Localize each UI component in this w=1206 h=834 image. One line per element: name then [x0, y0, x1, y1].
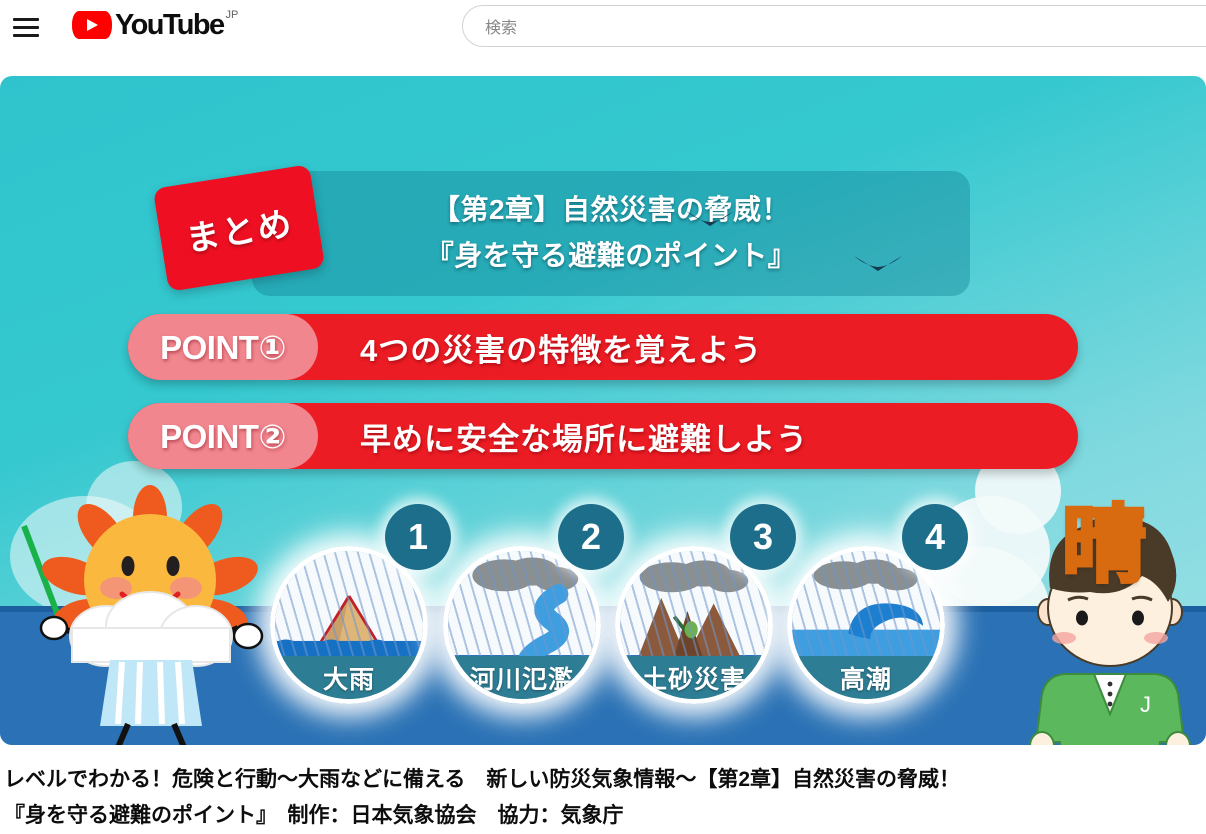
- bird-icon-2: [852, 254, 904, 272]
- disaster-number-badge-1: 1: [385, 504, 451, 570]
- shirt-letter: J: [1140, 692, 1151, 717]
- point-row-2: POINT② 早めに安全な場所に避難しよう: [128, 403, 1078, 469]
- search-placeholder: 検索: [485, 14, 517, 38]
- youtube-country-code: JP: [226, 9, 239, 21]
- disaster-number-badge-4: 4: [902, 504, 968, 570]
- video-caption-line2: 『身を守る避難のポイント』 制作：日本気象協会 協力：気象庁: [4, 798, 1202, 834]
- hamburger-menu-icon[interactable]: [13, 13, 41, 41]
- disaster-number-4: 4: [925, 516, 945, 558]
- youtube-wordmark: YouTube: [115, 8, 224, 42]
- youtube-header: YouTube JP 検索: [0, 0, 1206, 53]
- bird-icon-1: [684, 209, 736, 227]
- disaster-number-badge-2: 2: [558, 504, 624, 570]
- hamburger-bar-2: [13, 26, 39, 29]
- disaster-circle-1: 大雨: [270, 546, 428, 704]
- disaster-label-band-3: 土砂災害: [620, 656, 768, 699]
- point-text-2: 早めに安全な場所に避難しよう: [360, 414, 808, 459]
- disaster-label-band-1: 大雨: [275, 656, 423, 699]
- point-chip-1: POINT①: [128, 314, 318, 380]
- youtube-logo[interactable]: YouTube JP: [72, 8, 238, 44]
- disaster-label-1: 大雨: [323, 660, 375, 696]
- video-thumbnail[interactable]: 【第2章】自然災害の脅威！ 『身を守る避難のポイント』 まとめ POINT① 4…: [0, 76, 1206, 745]
- point-chip-label-1: POINT①: [160, 328, 286, 367]
- video-caption[interactable]: レベルでわかる！危険と行動〜大雨などに備える 新しい防災気象情報〜【第2章】自然…: [4, 762, 1202, 834]
- disaster-circle-4: 高潮: [787, 546, 945, 704]
- disaster-number-3: 3: [753, 516, 773, 558]
- disaster-circle-3: 土砂災害: [615, 546, 773, 704]
- search-input[interactable]: 検索: [462, 5, 1206, 47]
- disaster-label-3: 土砂災害: [642, 660, 746, 696]
- point-chip-2: POINT②: [128, 403, 318, 469]
- title-panel: 【第2章】自然災害の脅威！ 『身を守る避難のポイント』: [252, 171, 970, 296]
- hamburger-bar-3: [13, 34, 39, 37]
- video-caption-line1: レベルでわかる！危険と行動〜大雨などに備える 新しい防災気象情報〜【第2章】自然…: [4, 762, 1202, 798]
- disaster-label-4: 高潮: [840, 660, 892, 696]
- disaster-number-2: 2: [581, 516, 601, 558]
- disaster-circle-2: 河川氾濫: [443, 546, 601, 704]
- summary-badge-label: まとめ: [182, 195, 296, 260]
- point-chip-label-2: POINT②: [160, 417, 286, 456]
- sun-cloud-mascot: [10, 476, 290, 745]
- thumbnail-title-line1: 【第2章】自然災害の脅威！: [252, 188, 970, 228]
- disaster-label-2: 河川氾濫: [470, 660, 574, 696]
- youtube-play-icon: [72, 11, 112, 39]
- point-text-1: 4つの災害の特徴を覚えよう: [360, 325, 762, 370]
- point-row-1: POINT① 4つの災害の特徴を覚えよう: [128, 314, 1078, 380]
- disaster-label-band-2: 河川氾濫: [448, 656, 596, 699]
- disaster-label-band-4: 高潮: [792, 656, 940, 699]
- kanji-overlay: 晴: [1062, 478, 1146, 599]
- disaster-number-badge-3: 3: [730, 504, 796, 570]
- hamburger-bar-1: [13, 18, 39, 21]
- disaster-number-1: 1: [408, 516, 428, 558]
